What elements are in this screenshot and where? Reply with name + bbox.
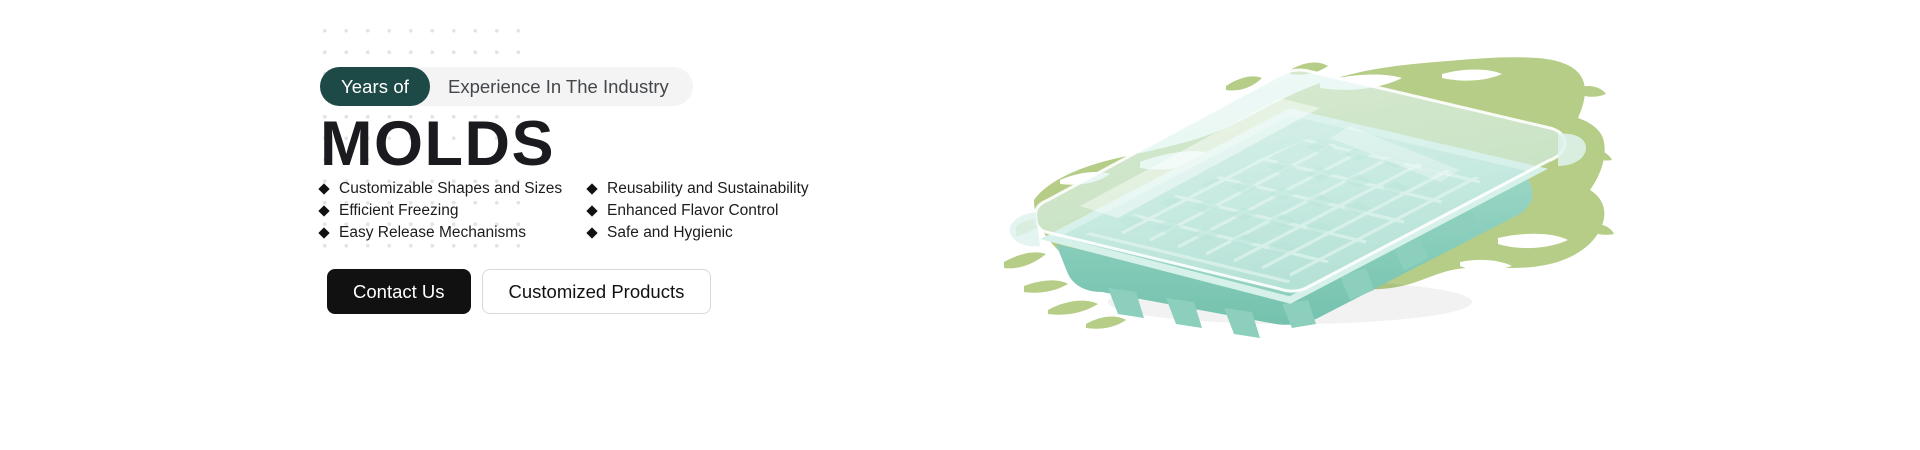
diamond-icon (318, 227, 329, 238)
list-item: Easy Release Mechanisms (320, 222, 588, 244)
list-item: Customizable Shapes and Sizes (320, 178, 588, 200)
diamond-icon (586, 183, 597, 194)
diamond-icon (318, 183, 329, 194)
diamond-icon (586, 205, 597, 216)
feature-label: Enhanced Flavor Control (607, 200, 778, 222)
page-title: MOLDS (320, 113, 555, 176)
years-of-badge: Years of (320, 67, 430, 106)
list-item: Reusability and Sustainability (588, 178, 840, 200)
hero-content: Years of Experience In The Industry MOLD… (320, 0, 1140, 450)
feature-label: Reusability and Sustainability (607, 178, 809, 200)
diamond-icon (318, 205, 329, 216)
feature-list: Customizable Shapes and Sizes Reusabilit… (320, 178, 840, 244)
eyebrow-pill: Years of Experience In The Industry (320, 67, 693, 106)
eyebrow-label: Experience In The Industry (430, 76, 669, 98)
feature-label: Efficient Freezing (339, 200, 458, 222)
hero-banner: Years of Experience In The Industry MOLD… (0, 0, 1920, 450)
diamond-icon (586, 227, 597, 238)
feature-label: Easy Release Mechanisms (339, 222, 526, 244)
feature-label: Customizable Shapes and Sizes (339, 178, 562, 200)
list-item: Efficient Freezing (320, 200, 588, 222)
customized-products-button[interactable]: Customized Products (482, 269, 712, 314)
cta-row: Contact Us Customized Products (327, 269, 711, 314)
contact-us-button[interactable]: Contact Us (327, 269, 471, 314)
list-item: Safe and Hygienic (588, 222, 840, 244)
list-item: Enhanced Flavor Control (588, 200, 840, 222)
feature-label: Safe and Hygienic (607, 222, 733, 244)
